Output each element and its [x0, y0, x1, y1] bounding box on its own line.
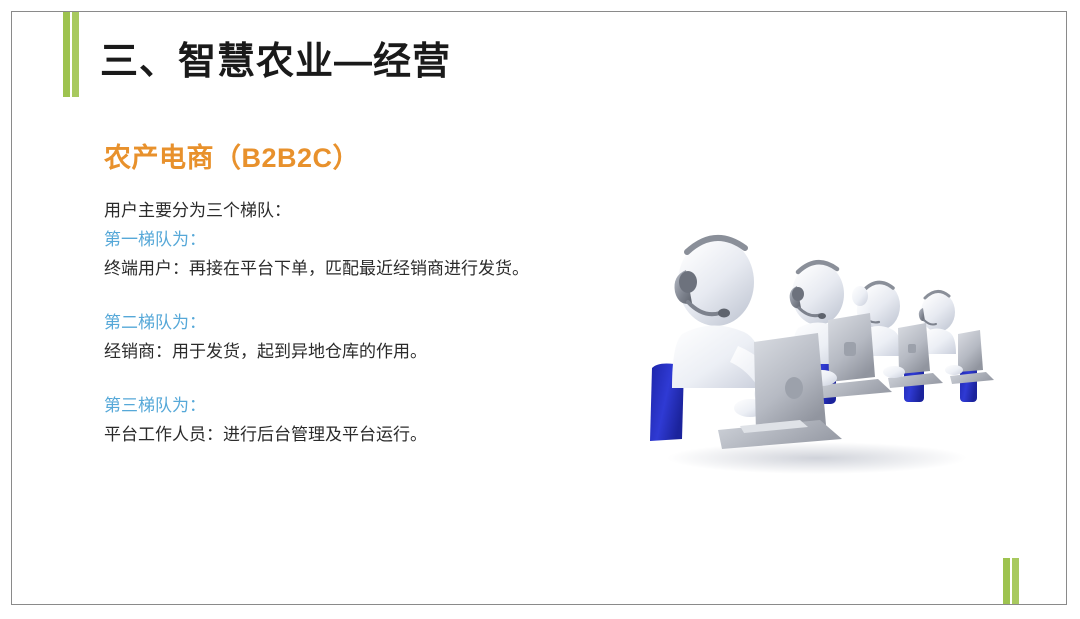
headset-earpiece-pad: [792, 287, 804, 301]
page-title: 三、智慧农业—经营: [100, 40, 451, 86]
operator-hand: [945, 365, 963, 375]
accent-bar-segment: [1012, 558, 1019, 605]
tier-1-description: 终端用户：再接在平台下单，匹配最近经销商进行发货。: [104, 254, 664, 283]
headset-mic-tip: [818, 313, 826, 319]
tier-2-heading: 第二梯队为：: [104, 308, 664, 337]
tier-3-heading: 第三梯队为：: [104, 391, 664, 420]
laptop-4: [950, 330, 994, 384]
tier-2-description: 经销商：用于发货，起到异地仓库的作用。: [104, 337, 664, 366]
accent-bar-bottom-right: [1003, 558, 1019, 605]
operator-hand: [883, 366, 905, 378]
laptop-logo: [908, 344, 916, 353]
accent-bar-segment: [1003, 558, 1010, 605]
body-text-block: 用户主要分为三个梯队： 第一梯队为： 终端用户：再接在平台下单，匹配最近经销商进…: [104, 196, 664, 449]
call-center-operators-illustration: [642, 230, 1027, 480]
ground-shadow: [667, 442, 967, 474]
tier-3-description: 平台工作人员：进行后台管理及平台运行。: [104, 420, 664, 449]
operator-figure-4: [919, 291, 994, 402]
section-subtitle: 农产电商（B2B2C）: [104, 136, 360, 175]
accent-bar-top-left: [63, 12, 79, 97]
laptop-screen: [958, 330, 983, 372]
laptop-logo: [844, 342, 856, 356]
body-intro-line: 用户主要分为三个梯队：: [104, 196, 664, 225]
headset-mic-tip: [718, 309, 730, 318]
laptop-logo: [785, 377, 803, 399]
headset-earpiece-pad: [679, 271, 697, 293]
tier-1-heading: 第一梯队为：: [104, 225, 664, 254]
operator-hand-raised: [852, 286, 868, 306]
accent-bar-segment: [72, 12, 79, 97]
slide-canvas: 三、智慧农业—经营 农产电商（B2B2C） 用户主要分为三个梯队： 第一梯队为：…: [11, 11, 1067, 605]
accent-bar-segment: [63, 12, 70, 97]
